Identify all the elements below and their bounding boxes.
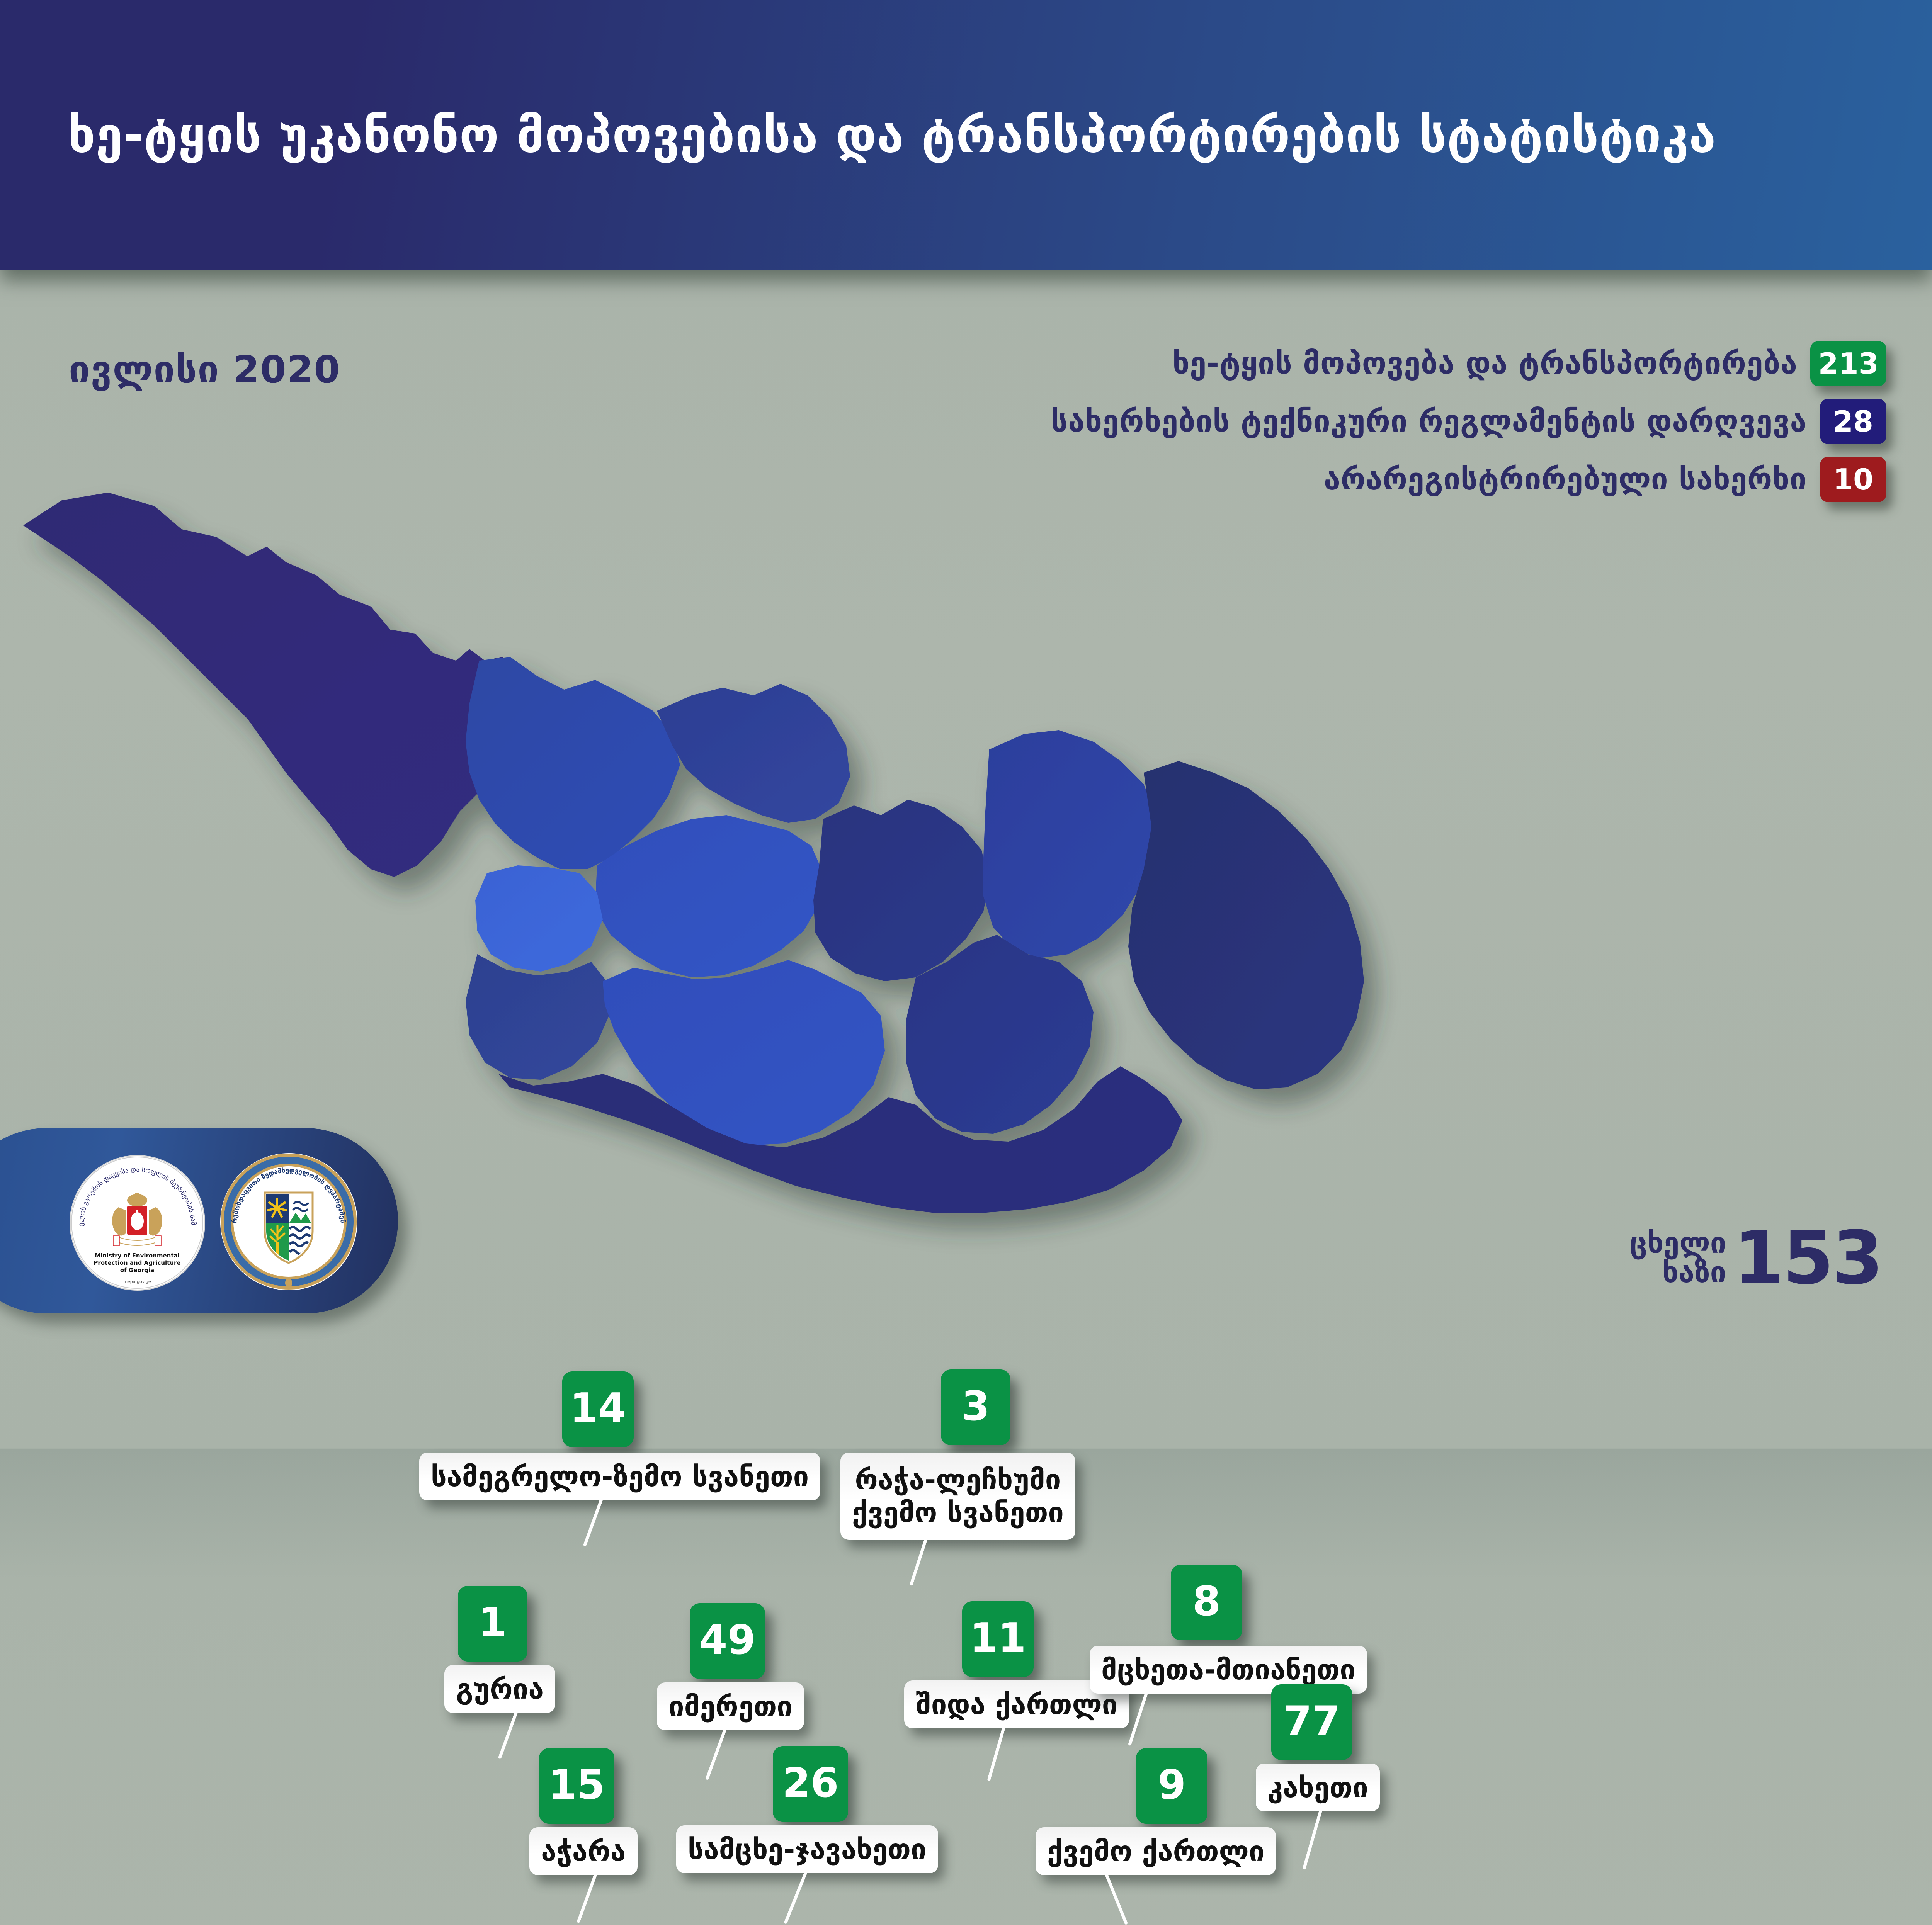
page-title: ხე-ტყის უკანონო მოპოვებისა და ტრანსპორტი…: [68, 110, 1716, 161]
region-mtskheta-mtianeti: [983, 730, 1155, 958]
map-regions: [23, 493, 1364, 1213]
region-name: გურია: [456, 1673, 544, 1706]
footer-logo-bar: საქართველოს გარემოს დაცვისა და სოფლის მე…: [0, 1128, 398, 1313]
region-name: სამეგრელო-ზემო სვანეთი: [431, 1460, 809, 1493]
region-value-badge: 15: [539, 1748, 614, 1824]
date-label: ივლისი 2020: [69, 348, 341, 391]
region-name: სამცხე-ჯავახეთი: [688, 1833, 927, 1866]
leader-line: [1302, 1802, 1324, 1870]
region-adjara: [466, 954, 611, 1080]
mepa-emblem-svg: საქართველოს გარემოს დაცვისა და სოფლის მე…: [71, 1156, 204, 1290]
region-name-line1: რაჭა-ლეჩხუმი: [855, 1463, 1061, 1496]
legend-value-badge: 28: [1820, 399, 1886, 444]
region-racha-lechkhumi: [657, 684, 850, 823]
region-value-badge: 26: [773, 1746, 848, 1822]
region-name: შიდა ქართლი: [916, 1688, 1117, 1721]
region-name-plate: რაჭა-ლეჩხუმი ქვემო სვანეთი: [840, 1453, 1075, 1540]
region-name: იმერეთი: [668, 1690, 793, 1723]
hotline-block: ცხელი ხაზი 153: [1629, 1227, 1882, 1290]
region-name-plate: გურია: [444, 1665, 555, 1713]
region-value-badge: 8: [1171, 1565, 1242, 1640]
hotline-word-2: ხაზი: [1629, 1258, 1726, 1287]
hotline-word-1: ცხელი: [1629, 1229, 1726, 1258]
region-value-badge: 11: [962, 1601, 1034, 1677]
legend-row: ხე-ტყის მოპოვება და ტრანსპორტირება 213: [897, 340, 1886, 387]
region-value-badge: 49: [690, 1603, 765, 1679]
mepa-emblem-line3: of Georgia: [120, 1267, 154, 1274]
mepa-emblem-line2: Protection and Agriculture: [94, 1259, 180, 1266]
region-name: აჭარა: [541, 1835, 626, 1868]
region-guria: [475, 865, 603, 972]
page-header: ხე-ტყის უკანონო მოპოვებისა და ტრანსპორტი…: [0, 0, 1932, 270]
region-name-plate: იმერეთი: [657, 1682, 804, 1730]
region-value-badge: 3: [941, 1369, 1010, 1445]
leader-line: [987, 1719, 1008, 1781]
environmental-supervision-emblem: გარემოსდაცვითი ზედამხედველობის დეპარტამე…: [220, 1153, 357, 1290]
legend-label: სახერხების ტექნიკური რეგლამენტის დარღვევ…: [1051, 404, 1807, 439]
hotline-number: 153: [1733, 1227, 1882, 1290]
region-name: ქვემო ქართლი: [1047, 1835, 1264, 1868]
legend-row: სახერხების ტექნიკური რეგლამენტის დარღვევ…: [897, 398, 1886, 445]
region-name-line2: ქვემო სვანეთი: [852, 1496, 1064, 1529]
mepa-emblem: საქართველოს გარემოს დაცვისა და სოფლის მე…: [70, 1155, 205, 1291]
legend-label: ხე-ტყის მოპოვება და ტრანსპორტირება: [1172, 346, 1797, 381]
region-value-badge: 77: [1271, 1684, 1352, 1760]
legend-value-badge: 213: [1810, 341, 1886, 386]
region-value-badge: 14: [562, 1371, 634, 1447]
region-value-badge: 1: [458, 1586, 527, 1662]
mepa-emblem-website: mepa.gov.ge: [123, 1279, 151, 1284]
region-kakheti: [1128, 761, 1364, 1089]
mepa-emblem-line1: Ministry of Environmental: [95, 1252, 180, 1259]
region-name-plate: ქვემო ქართლი: [1036, 1827, 1276, 1875]
region-name-plate: სამეგრელო-ზემო სვანეთი: [419, 1453, 820, 1500]
region-value-badge: 9: [1136, 1748, 1207, 1824]
hotline-label: ცხელი ხაზი: [1629, 1229, 1726, 1287]
region-name: კახეთი: [1267, 1771, 1368, 1804]
region-name: მცხეთა-მთიანეთი: [1101, 1653, 1355, 1686]
region-name-plate: კახეთი: [1256, 1764, 1380, 1811]
legend-value-badge: 10: [1820, 457, 1886, 502]
dept-emblem-svg: გარემოსდაცვითი ზედამხედველობის დეპარტამე…: [220, 1153, 357, 1290]
region-name-plate: აჭარა: [529, 1827, 638, 1875]
